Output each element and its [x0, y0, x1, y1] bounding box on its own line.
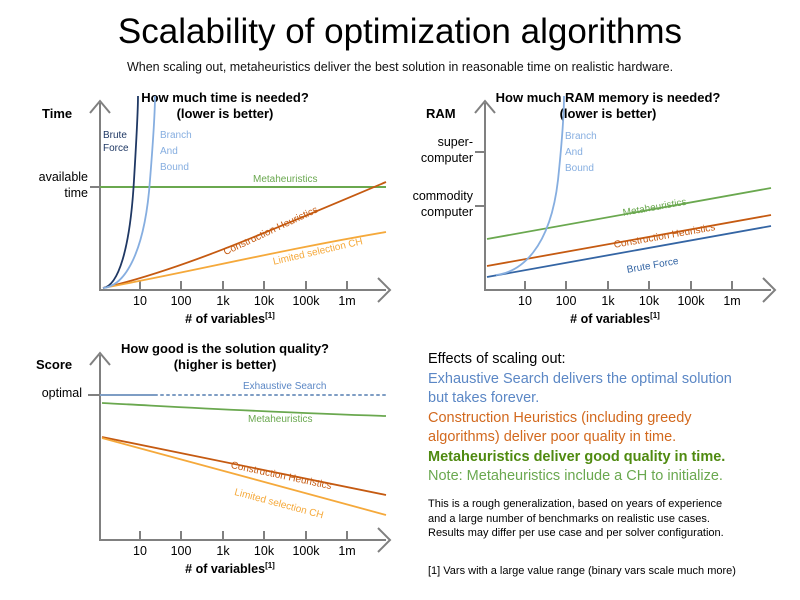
notes-line-exhaustive-1: Exhaustive Search delivers the optimal s… [428, 370, 788, 390]
notes-heading: Effects of scaling out: [428, 350, 788, 370]
notes-line-construction-2: algorithms) deliver poor quality in time… [428, 428, 788, 448]
effects-notes: Effects of scaling out: Exhaustive Searc… [428, 350, 788, 487]
series-label-brute-force-line2: Force [103, 143, 129, 154]
footnote-1: [1] Vars with a large value range (binar… [428, 565, 798, 577]
disclaimer-line-1: This is a rough generalization, based on… [428, 497, 788, 512]
chart-time: How much time is needed? (lower is bette… [0, 0, 410, 330]
slide-root: Scalability of optimization algorithms W… [0, 0, 800, 600]
chart-score: How good is the solution quality? (highe… [0, 330, 410, 600]
series-line-metaheuristics [102, 403, 386, 416]
series-line-branch-and-bound [103, 96, 155, 288]
series-label-brute-force-line1: Brute [103, 130, 127, 141]
series-label-branch-and-bound-line2: And [565, 147, 583, 158]
series-label-branch-and-bound-line3: Bound [565, 163, 594, 174]
notes-line-exhaustive-2: but takes forever. [428, 389, 788, 409]
series-line-construction-heuristics [103, 182, 386, 288]
chart-score-curves [0, 330, 410, 600]
series-label-branch-and-bound-line3: Bound [160, 162, 189, 173]
chart-ram: How much RAM memory is needed? (lower is… [410, 0, 800, 330]
series-label-branch-and-bound-line1: Branch [160, 130, 192, 141]
series-line-limited-selection-ch [102, 438, 386, 515]
notes-line-metaheuristics: Metaheuristics deliver good quality in t… [428, 448, 788, 468]
series-label-metaheuristics: Metaheuristics [248, 414, 312, 425]
chart-time-curves [0, 0, 410, 330]
notes-line-metaheuristics-note: Note: Metaheuristics include a CH to ini… [428, 467, 788, 487]
series-line-branch-and-bound [496, 96, 564, 275]
series-label-branch-and-bound-line1: Branch [565, 131, 597, 142]
disclaimer-line-2: and a large number of benchmarks on real… [428, 512, 788, 527]
chart-ram-curves [410, 0, 800, 330]
disclaimer-line-3: Results may differ per use case and per … [428, 526, 788, 541]
series-label-exhaustive-search: Exhaustive Search [243, 381, 326, 392]
series-label-branch-and-bound-line2: And [160, 146, 178, 157]
notes-line-construction-1: Construction Heuristics (including greed… [428, 409, 788, 429]
series-label-metaheuristics: Metaheuristics [253, 174, 317, 185]
disclaimer-block: This is a rough generalization, based on… [428, 497, 788, 541]
